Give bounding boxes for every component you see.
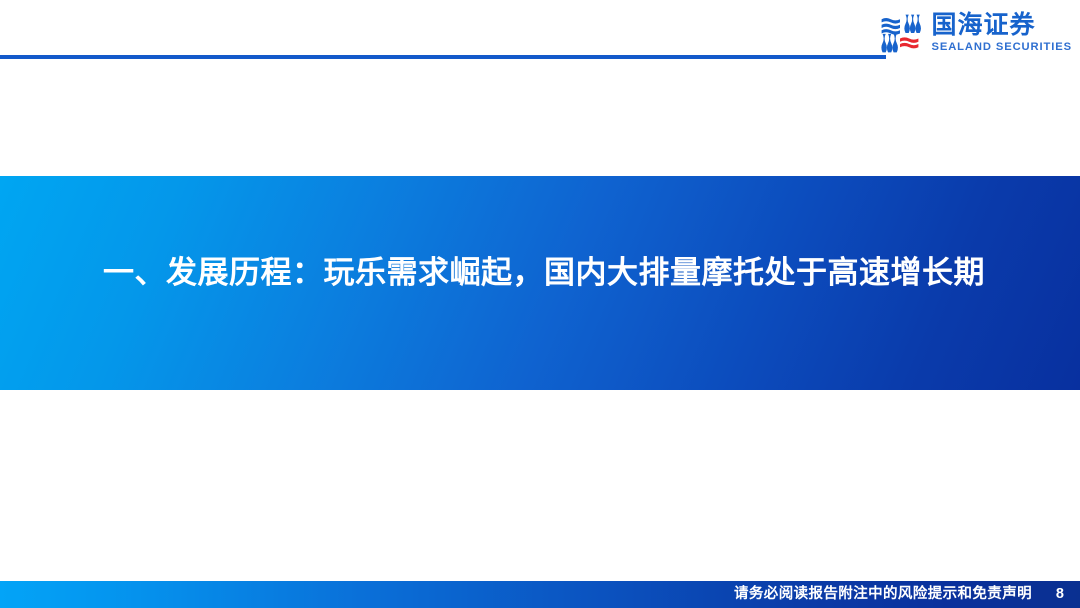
header-divider-rule	[0, 55, 886, 59]
brand-name-cn: 国海证券	[931, 12, 1072, 37]
footer-bar: 请务必阅读报告附注中的风险提示和免责声明 8	[0, 581, 1080, 608]
brand-name-block: 国海证券 SEALAND SECURITIES	[931, 12, 1072, 53]
page-number: 8	[1056, 581, 1064, 608]
brand-name-en: SEALAND SECURITIES	[931, 42, 1072, 53]
slide-canvas: 国海证券 SEALAND SECURITIES 一、发展历程：玩乐需求崛起，国内…	[0, 0, 1080, 608]
brand-lockup: 国海证券 SEALAND SECURITIES	[877, 10, 1072, 56]
sealand-pinwheel-logo-icon	[877, 10, 923, 56]
section-title: 一、发展历程：玩乐需求崛起，国内大排量摩托处于高速增长期	[103, 247, 1003, 292]
footer-disclaimer: 请务必阅读报告附注中的风险提示和免责声明	[734, 581, 1032, 608]
